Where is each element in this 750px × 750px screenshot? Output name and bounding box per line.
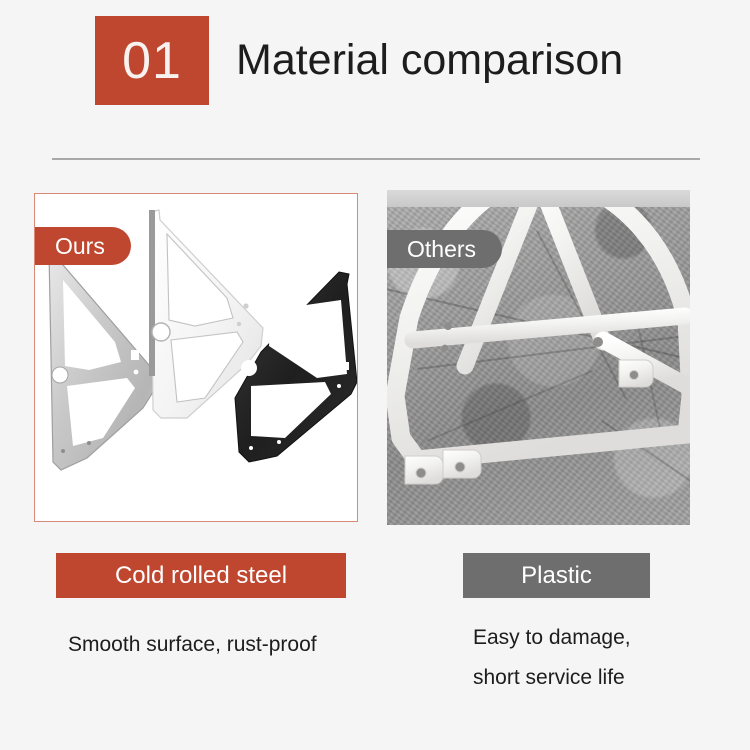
header-divider [52, 158, 700, 160]
cold-rolled-steel-caption: Cold rolled steel [56, 553, 346, 598]
section-number-badge: 01 [95, 16, 209, 105]
section-number-text: 01 [122, 35, 182, 87]
ours-panel: Ours [34, 193, 358, 522]
page-header: 01 Material comparison [0, 0, 750, 130]
others-description-line-1: Easy to damage, [473, 626, 631, 650]
others-panel: Others [387, 190, 690, 525]
bracket-part-black [221, 266, 358, 476]
others-badge-label: Others [407, 236, 476, 263]
cold-rolled-steel-label: Cold rolled steel [115, 562, 287, 590]
ours-badge-label: Ours [55, 233, 105, 260]
page-title: Material comparison [236, 36, 623, 85]
others-badge: Others [387, 230, 502, 268]
plastic-caption: Plastic [463, 553, 650, 598]
ours-badge: Ours [35, 227, 131, 265]
others-description-line-2: short service life [473, 666, 625, 690]
photo-top-strip [387, 190, 690, 207]
plastic-label: Plastic [521, 562, 592, 590]
ours-description: Smooth surface, rust-proof [68, 633, 317, 657]
